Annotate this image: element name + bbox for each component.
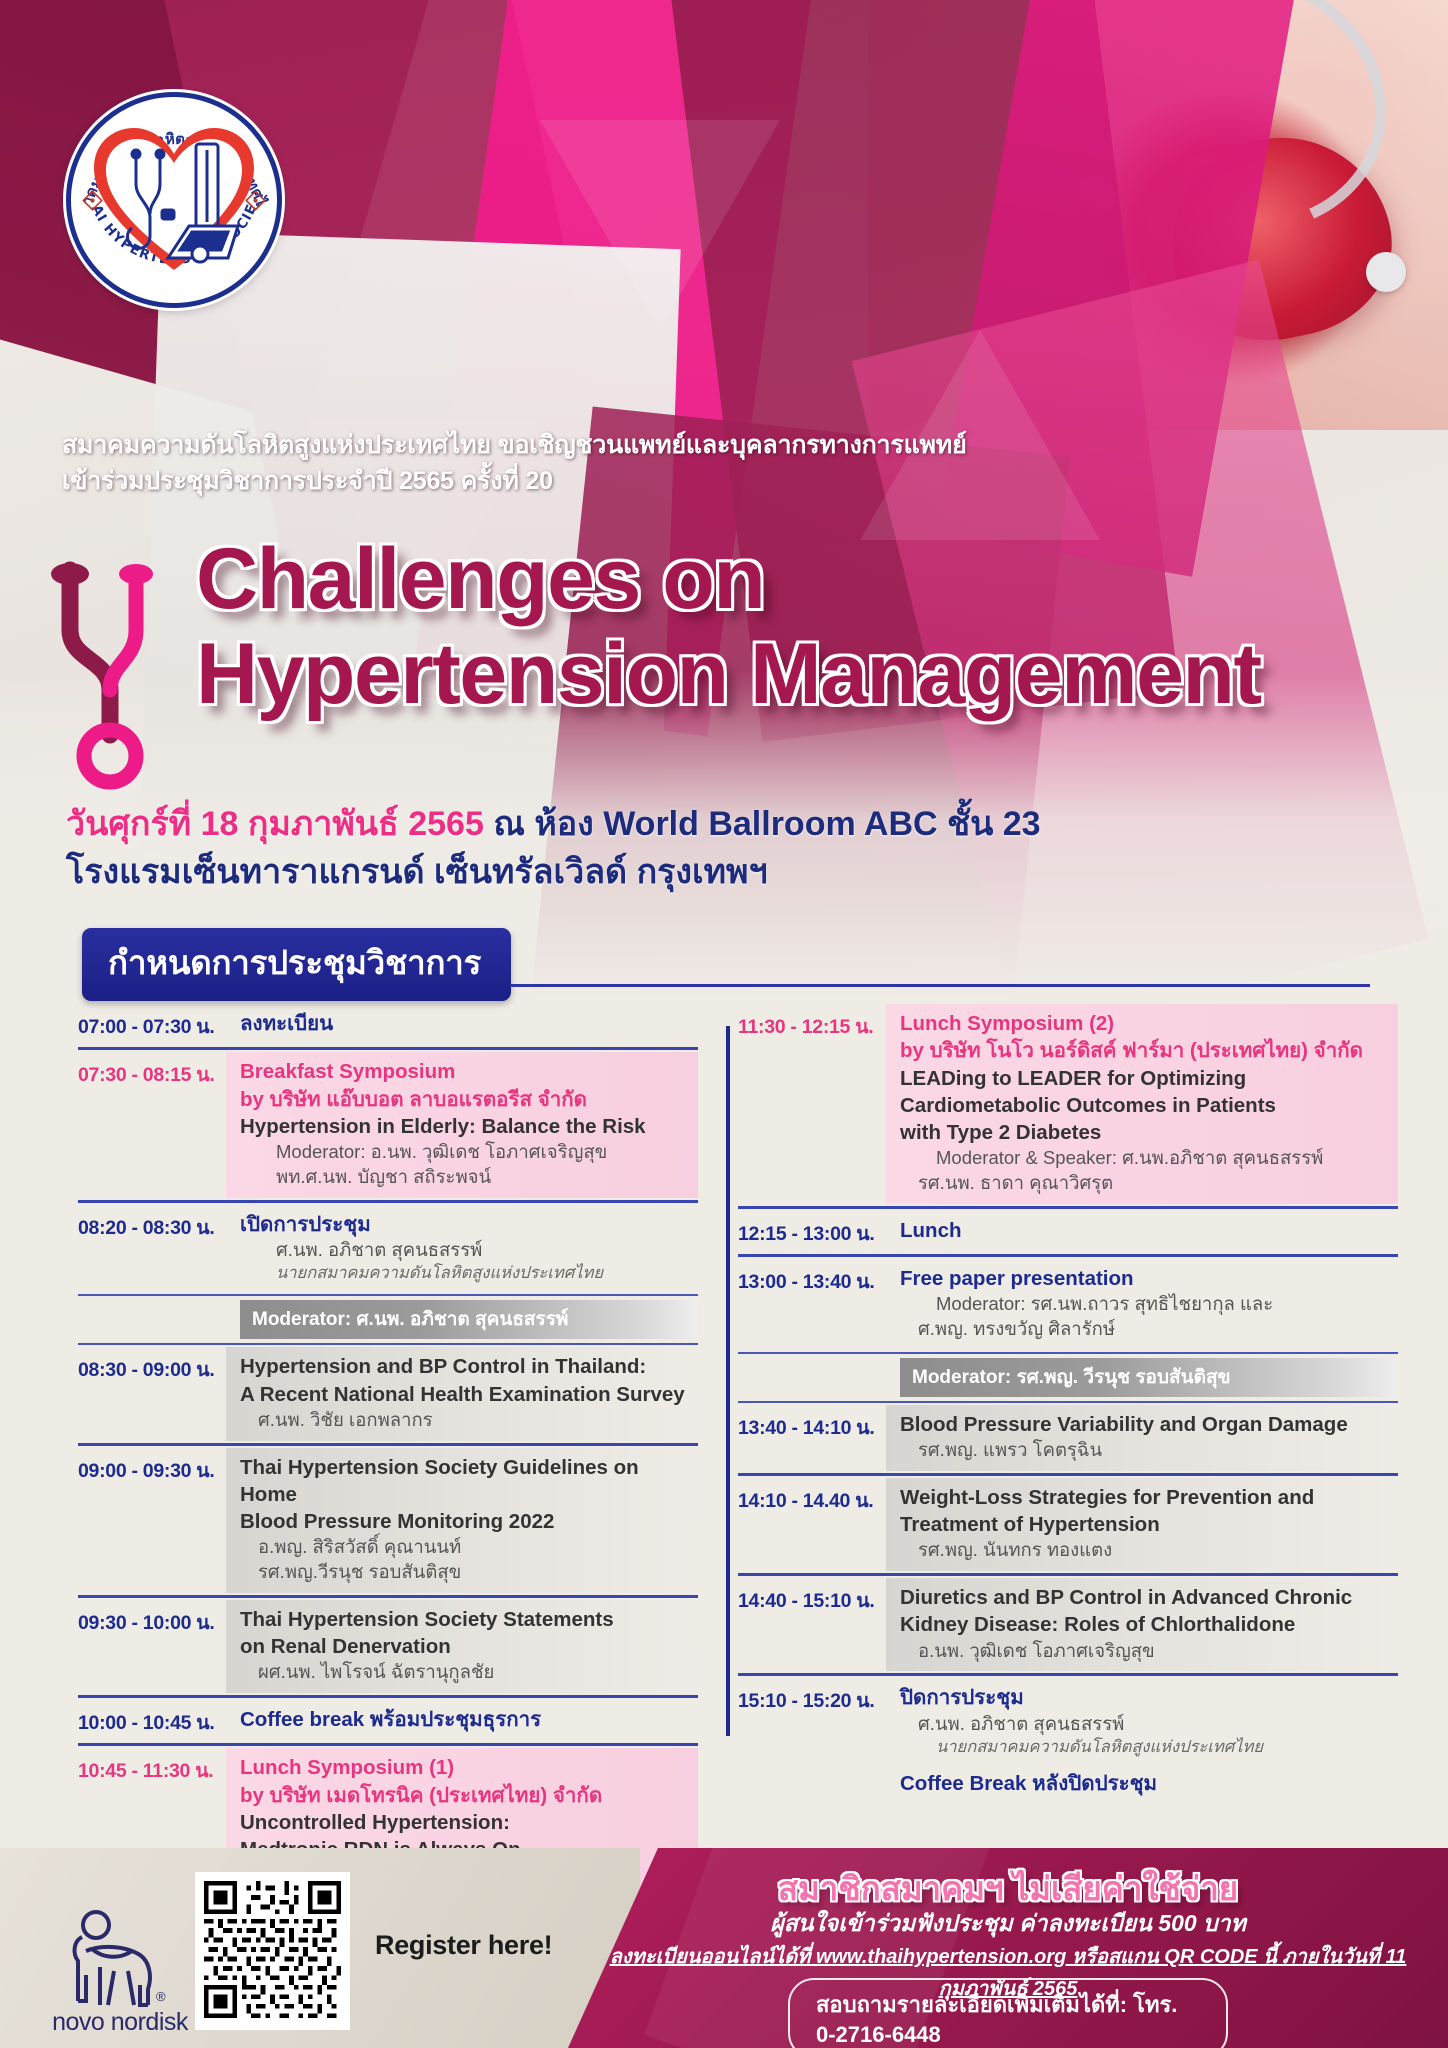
schedule-line: Thai Hypertension Society Guidelines on … (240, 1454, 698, 1509)
register-here-label: Register here! (375, 1930, 552, 1961)
schedule-line: Blood Pressure Monitoring 2022 (240, 1508, 698, 1535)
event-datetime-venue: วันศุกร์ที่ 18 กุมภาพันธ์ 2565 ณ ห้อง Wo… (66, 800, 1266, 897)
footer-contact-pill[interactable]: สอบถามรายละเอียดเพิ่มเติมได้ที่: โทร. 0-… (788, 1978, 1228, 2048)
row-separator (738, 1573, 1398, 1576)
schedule-row: 11:30 - 12:15 น.Lunch Symposium (2)by บร… (738, 1004, 1398, 1204)
schedule-line: Lunch Symposium (2) (900, 1010, 1398, 1037)
schedule-line: รศ.พญ. แพรว โคตรุฉิน (900, 1438, 1398, 1463)
schedule-row-body: ลงทะเบียน (226, 1004, 698, 1045)
schedule-line: Hypertension and BP Control in Thailand: (240, 1353, 698, 1380)
row-separator (738, 1206, 1398, 1209)
schedule-column-left: 07:00 - 07:30 น.ลงทะเบียน07:30 - 08:15 น… (78, 1004, 698, 1971)
schedule-line: by บริษัท เมดโทรนิค (ประเทศไทย) จำกัด (240, 1782, 698, 1809)
schedule-line: อ.พญ. สิริสวัสดิ์ คุณานนท์ (240, 1535, 698, 1560)
schedule-line: นายกสมาคมความดันโลหิตสูงแห่งประเทศไทย (900, 1737, 1398, 1759)
novo-nordisk-wordmark: novo nordisk (40, 2008, 200, 2037)
schedule-row-body: Free paper presentationModerator: รศ.นพ.… (886, 1259, 1398, 1350)
row-separator (738, 1401, 1398, 1403)
schedule-line: เปิดการประชุม (240, 1211, 698, 1238)
schedule-row: 13:40 - 14:10 น.Blood Pressure Variabili… (738, 1405, 1398, 1471)
schedule-row-body: Diuretics and BP Control in Advanced Chr… (886, 1578, 1398, 1671)
logo-heart-with-instruments (88, 118, 260, 278)
schedule-row-time: 07:00 - 07:30 น. (78, 1004, 226, 1045)
schedule-row-time: 09:00 - 09:30 น. (78, 1448, 226, 1593)
schedule-row: 14:40 - 15:10 น.Diuretics and BP Control… (738, 1578, 1398, 1671)
event-date: วันศุกร์ที่ 18 กุมภาพันธ์ 2565 (66, 805, 484, 843)
schedule-line: Hypertension in Elderly: Balance the Ris… (240, 1113, 698, 1140)
schedule-line: Cardiometabolic Outcomes in Patients (900, 1092, 1398, 1119)
row-separator (738, 1473, 1398, 1476)
schedule-line: with Type 2 Diabetes (900, 1119, 1398, 1146)
schedule-line: Coffee break พร้อมประชุมธุรการ (240, 1706, 698, 1733)
schedule-line: Diuretics and BP Control in Advanced Chr… (900, 1584, 1398, 1611)
intro-line-2: เข้าร่วมประชุมวิชาการประจำปี 2565 ครั้งท… (62, 464, 1062, 500)
schedule-row: 13:00 - 13:40 น.Free paper presentationM… (738, 1259, 1398, 1350)
schedule-line: ผศ.นพ. ไพโรจน์ ฉัตรานุกูลชัย (240, 1660, 698, 1685)
schedule-row-time: 15:10 - 15:20 น. (738, 1678, 886, 1805)
schedule-line: Free paper presentation (900, 1265, 1398, 1292)
schedule-row: 15:10 - 15:20 น.ปิดการประชุมศ.นพ. อภิชาต… (738, 1678, 1398, 1805)
row-separator (738, 1254, 1398, 1257)
row-separator (738, 1673, 1398, 1676)
schedule-column-right: 11:30 - 12:15 น.Lunch Symposium (2)by บร… (738, 1004, 1398, 1806)
schedule-row-time (738, 1356, 886, 1399)
stethoscope-earpiece-right (1366, 252, 1406, 292)
event-date-line: วันศุกร์ที่ 18 กุมภาพันธ์ 2565 ณ ห้อง Wo… (66, 800, 1266, 848)
schedule-row-body: เปิดการประชุมศ.นพ. อภิชาต สุคนธสรรพ์นายก… (226, 1205, 698, 1293)
bg-triangle-1 (540, 120, 780, 330)
schedule-row: 09:00 - 09:30 น.Thai Hypertension Societ… (78, 1448, 698, 1593)
schedule-row-body: Coffee break พร้อมประชุมธุรการ (226, 1700, 698, 1741)
footer-fee-line: ผู้สนใจเข้าร่วมฟังประชุม ค่าลงทะเบียน 50… (568, 1906, 1448, 1942)
schedule-line: ศ.นพ. วิชัย เอกพลากร (240, 1408, 698, 1433)
schedule-line: ปิดการประชุม (900, 1684, 1398, 1711)
schedule-row-body: Weight-Loss Strategies for Prevention an… (886, 1478, 1398, 1571)
moderator-bar: Moderator: รศ.พญ. วีรนุช รอบสันติสุข (900, 1358, 1398, 1397)
schedule-row: Moderator: ศ.นพ. อภิชาต สุคนธสรรพ์ (78, 1298, 698, 1341)
schedule-line: รศ.พญ. นันทกร ทองแตง (900, 1538, 1398, 1563)
title-line-2: Hypertension Management (196, 633, 1426, 716)
schedule-row-time: 08:20 - 08:30 น. (78, 1205, 226, 1293)
event-venue: โรงแรมเซ็นทาราแกรนด์ เซ็นทรัลเวิลด์ กรุง… (66, 848, 1266, 896)
schedule-banner-rule (510, 984, 1370, 987)
schedule-line: by บริษัท แอ๊บบอต ลาบอแรตอรีส จำกัด (240, 1086, 698, 1113)
thai-hypertension-society-logo: สมาคมความดันโลหิตสูงแห่งประเทศไทย THAI H… (66, 92, 282, 308)
registered-mark: ® (156, 1989, 166, 2004)
schedule-row-body: Breakfast Symposiumby บริษัท แอ๊บบอต ลาบ… (226, 1052, 698, 1197)
schedule-banner: กำหนดการประชุมวิชาการ (82, 928, 511, 1001)
schedule-line: Coffee Break หลังปิดประชุม (900, 1770, 1398, 1797)
schedule-row-time: 13:00 - 13:40 น. (738, 1259, 886, 1350)
schedule-row-body: ปิดการประชุมศ.นพ. อภิชาต สุคนธสรรพ์นายกส… (886, 1678, 1398, 1805)
schedule-row-time: 08:30 - 09:00 น. (78, 1347, 226, 1440)
schedule-row-time: 14:10 - 14.40 น. (738, 1478, 886, 1571)
schedule-line: on Renal Denervation (240, 1633, 698, 1660)
row-separator (78, 1695, 698, 1698)
schedule-line: LEADing to LEADER for Optimizing (900, 1065, 1398, 1092)
row-separator (738, 1352, 1398, 1354)
schedule-line: ศ.พญ. ทรงขวัญ ศิลารักษ์ (900, 1317, 1398, 1342)
schedule-line: A Recent National Health Examination Sur… (240, 1381, 698, 1408)
schedule-line: Blood Pressure Variability and Organ Dam… (900, 1411, 1398, 1438)
schedule-row-time: 09:30 - 10:00 น. (78, 1600, 226, 1693)
schedule-line: รศ.พญ.วีรนุช รอบสันติสุข (240, 1560, 698, 1585)
schedule-line: Treatment of Hypertension (900, 1511, 1398, 1538)
schedule-row: 14:10 - 14.40 น.Weight-Loss Strategies f… (738, 1478, 1398, 1571)
poster-title: Challenges on Hypertension Management (196, 538, 1426, 715)
schedule-row: 12:15 - 13:00 น.Lunch (738, 1211, 1398, 1252)
qr-code-icon (204, 1881, 341, 2018)
schedule-line: ศ.นพ. อภิชาต สุคนธสรรพ์ (240, 1238, 698, 1263)
schedule-row: 09:30 - 10:00 น.Thai Hypertension Societ… (78, 1600, 698, 1693)
event-room: ณ ห้อง World Ballroom ABC ชั้น 23 (484, 805, 1041, 843)
intro-line-1: สมาคมความดันโลหิตสูงแห่งประเทศไทย ขอเชิญ… (62, 428, 1062, 464)
schedule-row-time: 13:40 - 14:10 น. (738, 1405, 886, 1471)
moderator-bar: Moderator: ศ.นพ. อภิชาต สุคนธสรรพ์ (240, 1300, 698, 1339)
schedule-line: Thai Hypertension Society Statements (240, 1606, 698, 1633)
title-line-1: Challenges on (196, 538, 1426, 621)
schedule-line: Lunch Symposium (1) (240, 1754, 698, 1781)
schedule-row-time: 12:15 - 13:00 น. (738, 1211, 886, 1252)
schedule-row-body: Thai Hypertension Society Statementson R… (226, 1600, 698, 1693)
row-separator (78, 1443, 698, 1446)
row-separator (78, 1343, 698, 1345)
schedule-row: 07:00 - 07:30 น.ลงทะเบียน (78, 1004, 698, 1045)
schedule-line: Moderator: อ.นพ. วุฒิเดช โอภาศเจริญสุข (240, 1140, 698, 1165)
schedule-row-body: Moderator: รศ.พญ. วีรนุช รอบสันติสุข (886, 1356, 1398, 1399)
footer-right-panel: สมาชิกสมาคมฯ ไม่เสียค่าใช้จ่าย ผู้สนใจเข… (568, 1848, 1448, 2048)
schedule-row-body: Blood Pressure Variability and Organ Dam… (886, 1405, 1398, 1471)
column-divider (726, 1026, 730, 1736)
intro-text: สมาคมความดันโลหิตสูงแห่งประเทศไทย ขอเชิญ… (62, 428, 1062, 499)
schedule-line: รศ.นพ. ธาดา คุณาวิศรุต (900, 1171, 1398, 1196)
row-separator (78, 1047, 698, 1050)
schedule-row: Moderator: รศ.พญ. วีรนุช รอบสันติสุข (738, 1356, 1398, 1399)
schedule-line: ลงทะเบียน (240, 1010, 698, 1037)
novo-nordisk-bull-icon: ® (48, 1905, 178, 2025)
schedule-line: Weight-Loss Strategies for Prevention an… (900, 1484, 1398, 1511)
row-separator (78, 1294, 698, 1296)
schedule-row-time: 07:30 - 08:15 น. (78, 1052, 226, 1197)
schedule-row: 08:30 - 09:00 น.Hypertension and BP Cont… (78, 1347, 698, 1440)
row-separator (78, 1743, 698, 1746)
schedule-row: 08:20 - 08:30 น.เปิดการประชุมศ.นพ. อภิชา… (78, 1205, 698, 1293)
schedule-row-body: Lunch Symposium (2)by บริษัท โนโว นอร์ดิ… (886, 1004, 1398, 1204)
schedule-line: by บริษัท โนโว นอร์ดิสค์ ฟาร์มา (ประเทศไ… (900, 1037, 1398, 1064)
schedule-row-body: Hypertension and BP Control in Thailand:… (226, 1347, 698, 1440)
schedule-line: Moderator & Speaker: ศ.นพ.อภิชาต สุคนธสร… (900, 1146, 1398, 1171)
schedule-columns: 07:00 - 07:30 น.ลงทะเบียน07:30 - 08:15 น… (0, 1004, 1448, 1850)
schedule-row-time: 14:40 - 15:10 น. (738, 1578, 886, 1671)
schedule-row: 10:00 - 10:45 น.Coffee break พร้อมประชุม… (78, 1700, 698, 1741)
schedule-row-time: 11:30 - 12:15 น. (738, 1004, 886, 1204)
schedule-row-time (78, 1298, 226, 1341)
schedule-row-body: Moderator: ศ.นพ. อภิชาต สุคนธสรรพ์ (226, 1298, 698, 1341)
schedule-row-body: Lunch (886, 1211, 1398, 1252)
row-separator (78, 1200, 698, 1203)
schedule-line: ศ.นพ. อภิชาต สุคนธสรรพ์ (900, 1712, 1398, 1737)
schedule-line: Moderator: รศ.นพ.ถาวร สุทธิไชยากุล และ (900, 1292, 1398, 1317)
schedule-line: Lunch (900, 1217, 1398, 1244)
schedule-line: นายกสมาคมความดันโลหิตสูงแห่งประเทศไทย (240, 1263, 698, 1285)
row-separator (78, 1595, 698, 1598)
schedule-row: 07:30 - 08:15 น.Breakfast Symposiumby บร… (78, 1052, 698, 1197)
schedule-line: Uncontrolled Hypertension: (240, 1809, 698, 1836)
conference-poster: สมาคมความดันโลหิตสูงแห่งประเทศไทย THAI H… (0, 0, 1448, 2048)
schedule-line: อ.นพ. วุฒิเดช โอภาศเจริญสุข (900, 1639, 1398, 1664)
schedule-row-time: 10:00 - 10:45 น. (78, 1700, 226, 1741)
schedule-line: Breakfast Symposium (240, 1058, 698, 1085)
schedule-row-body: Thai Hypertension Society Guidelines on … (226, 1448, 698, 1593)
schedule-line: Kidney Disease: Roles of Chlorthalidone (900, 1611, 1398, 1638)
schedule-line: พท.ศ.นพ. บัญชา สถิระพจน์ (240, 1165, 698, 1190)
registration-qr-code[interactable] (195, 1872, 350, 2030)
